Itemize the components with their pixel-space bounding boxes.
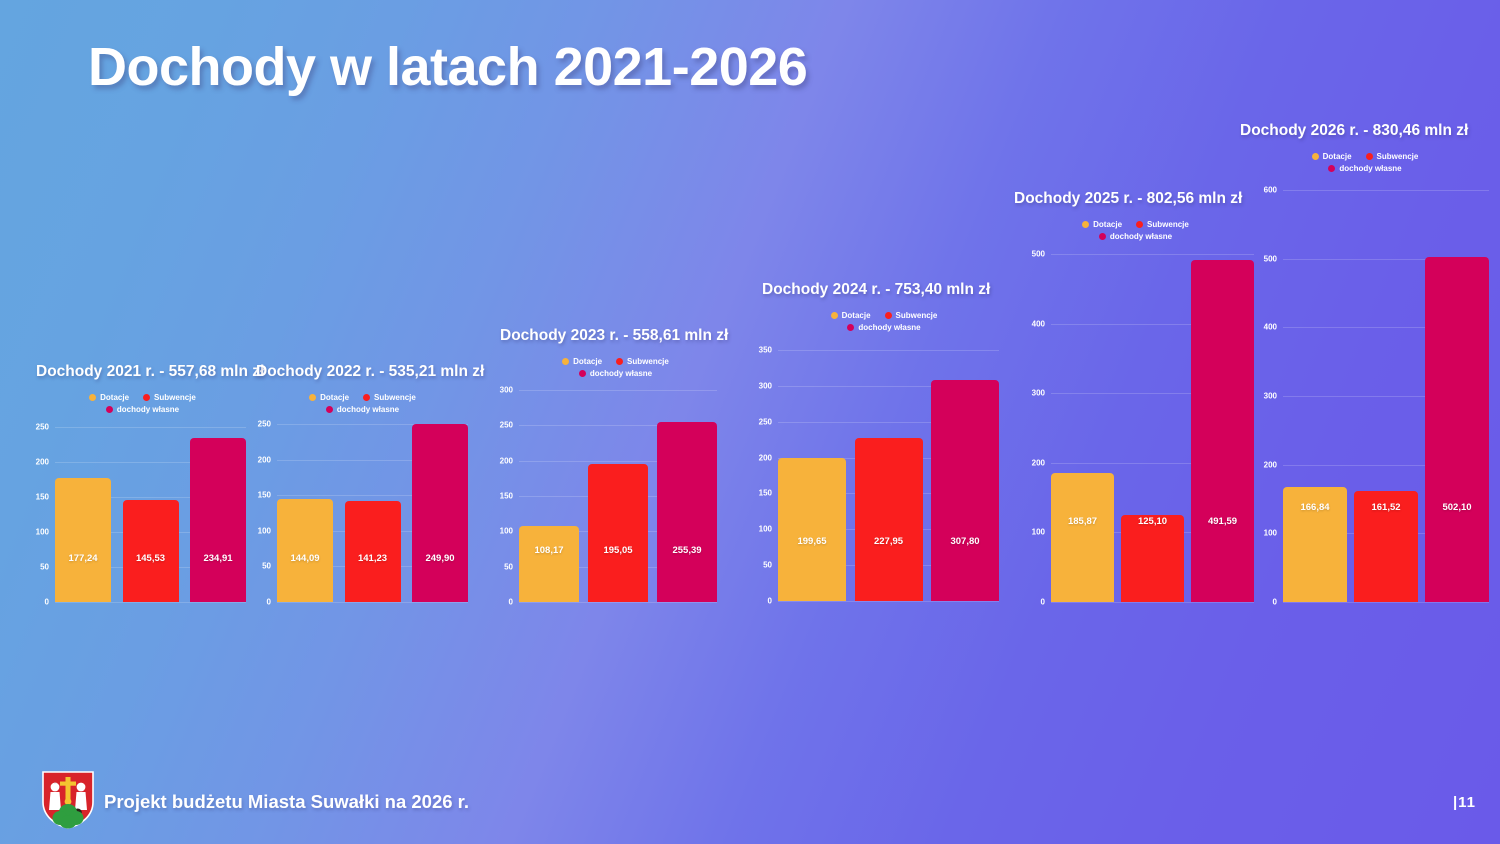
y-axis-tick-label: 150	[500, 492, 513, 501]
y-axis-tick-label: 150	[258, 491, 271, 500]
bar-group: 199,65227,95307,80	[778, 350, 999, 601]
y-axis-tick-label: 150	[759, 489, 772, 498]
chart-legend-2021: DotacjeSubwencjedochody własne	[36, 393, 249, 414]
bar-2024-dochody-własne[interactable]: 307,80	[931, 380, 999, 601]
bar-2022-dotacje[interactable]: 144,09	[277, 499, 333, 602]
legend-dot-icon	[89, 394, 96, 401]
chart-title-2021: Dochody 2021 r. - 557,68 mln zł	[36, 363, 264, 381]
legend-dot-icon	[1312, 153, 1319, 160]
y-axis-tick-label: 0	[768, 597, 772, 606]
bar-value-label: 141,23	[358, 553, 387, 564]
legend-item-dotacje[interactable]: Dotacje	[831, 311, 871, 320]
bar-value-label: 227,95	[874, 536, 903, 547]
y-axis-tick-label: 200	[36, 458, 49, 467]
y-axis-tick-label: 300	[759, 381, 772, 390]
legend-label: Dotacje	[320, 393, 349, 402]
y-axis-tick-label: 50	[763, 561, 772, 570]
chart-2022: Dochody 2022 r. - 535,21 mln złDotacjeSu…	[256, 363, 469, 373]
bar-2023-dochody-własne[interactable]: 255,39	[657, 422, 717, 602]
legend-label: Dotacje	[573, 357, 602, 366]
bar-2022-dochody-własne[interactable]: 249,90	[412, 424, 468, 602]
bar-2021-dotacje[interactable]: 177,24	[55, 478, 111, 602]
plot-area-2024: 350300250200150100500199,65227,95307,80	[778, 350, 999, 601]
bar-2024-dotacje[interactable]: 199,65	[778, 458, 846, 601]
bar-value-label: 177,24	[68, 553, 97, 564]
y-axis-tick-label: 150	[36, 493, 49, 502]
bar-value-label: 255,39	[672, 545, 701, 556]
y-axis-tick-label: 0	[1041, 598, 1045, 607]
y-axis-tick-label: 400	[1032, 319, 1045, 328]
footer-text: Projekt budżetu Miasta Suwałki na 2026 r…	[104, 791, 469, 813]
bar-value-label: 234,91	[203, 553, 232, 564]
chart-2023: Dochody 2023 r. - 558,61 mln złDotacjeSu…	[500, 327, 731, 337]
y-axis-tick-label: 0	[267, 598, 271, 607]
bar-group: 108,17195,05255,39	[519, 390, 717, 602]
y-axis-tick-label: 200	[500, 456, 513, 465]
bar-group: 185,87125,10491,59	[1051, 254, 1254, 602]
legend-item-subwencje[interactable]: Subwencje	[616, 357, 669, 366]
bar-2024-subwencje[interactable]: 227,95	[855, 438, 923, 601]
chart-title-2026: Dochody 2026 r. - 830,46 mln zł	[1240, 122, 1468, 140]
legend-item-dochody-własne[interactable]: dochody własne	[326, 405, 399, 414]
legend-dot-icon	[831, 312, 838, 319]
page-number: |11	[1453, 794, 1476, 811]
bar-2021-subwencje[interactable]: 145,53	[123, 500, 179, 602]
y-axis-tick-label: 200	[258, 455, 271, 464]
legend-dot-icon	[1328, 165, 1335, 172]
chart-2024: Dochody 2024 r. - 753,40 mln złDotacjeSu…	[762, 281, 1006, 291]
legend-item-dotacje[interactable]: Dotacje	[562, 357, 602, 366]
legend-label: Subwencje	[627, 357, 669, 366]
legend-label: dochody własne	[590, 369, 652, 378]
y-axis-tick-label: 300	[1032, 389, 1045, 398]
chart-legend-2025: DotacjeSubwencjedochody własne	[1014, 220, 1257, 241]
legend-label: dochody własne	[1110, 232, 1172, 241]
legend-item-subwencje[interactable]: Subwencje	[1366, 152, 1419, 161]
bar-group: 177,24145,53234,91	[55, 427, 246, 602]
legend-dot-icon	[616, 358, 623, 365]
bar-value-label: 144,09	[290, 553, 319, 564]
bar-group: 144,09141,23249,90	[277, 424, 468, 602]
bar-2026-dochody-własne[interactable]: 502,10	[1425, 257, 1489, 602]
y-axis-tick-label: 350	[759, 346, 772, 355]
legend-label: dochody własne	[117, 405, 179, 414]
legend-label: Subwencje	[1147, 220, 1189, 229]
bar-value-label: 195,05	[603, 545, 632, 556]
bar-2023-subwencje[interactable]: 195,05	[588, 464, 648, 602]
bar-value-label: 185,87	[1068, 516, 1097, 527]
bar-2025-dotacje[interactable]: 185,87	[1051, 473, 1114, 602]
gridline	[277, 602, 468, 603]
y-axis-tick-label: 100	[258, 526, 271, 535]
y-axis-tick-label: 100	[1264, 529, 1277, 538]
y-axis-tick-label: 100	[759, 525, 772, 534]
chart-2025: Dochody 2025 r. - 802,56 mln złDotacjeSu…	[1014, 190, 1257, 200]
legend-item-dochody-własne[interactable]: dochody własne	[847, 323, 920, 332]
y-axis-tick-label: 200	[1032, 458, 1045, 467]
y-axis-tick-label: 250	[759, 417, 772, 426]
bar-value-label: 502,10	[1442, 502, 1471, 513]
legend-item-subwencje[interactable]: Subwencje	[885, 311, 938, 320]
footer: Projekt budżetu Miasta Suwałki na 2026 r…	[0, 760, 1500, 844]
legend-dot-icon	[326, 406, 333, 413]
legend-item-subwencje[interactable]: Subwencje	[1136, 220, 1189, 229]
y-axis-tick-label: 250	[258, 420, 271, 429]
y-axis-tick-label: 400	[1264, 323, 1277, 332]
legend-label: Subwencje	[154, 393, 196, 402]
bar-value-label: 125,10	[1138, 516, 1167, 527]
legend-dot-icon	[1366, 153, 1373, 160]
y-axis-tick-label: 500	[1264, 254, 1277, 263]
legend-item-dotacje[interactable]: Dotacje	[1312, 152, 1352, 161]
y-axis-tick-label: 50	[262, 562, 271, 571]
y-axis-tick-label: 50	[40, 563, 49, 572]
legend-item-dochody-własne[interactable]: dochody własne	[106, 405, 179, 414]
y-axis-tick-label: 250	[500, 421, 513, 430]
gridline	[778, 601, 999, 602]
chart-legend-2024: DotacjeSubwencjedochody własne	[762, 311, 1006, 332]
legend-dot-icon	[885, 312, 892, 319]
chart-2021: Dochody 2021 r. - 557,68 mln złDotacjeSu…	[36, 363, 249, 373]
chart-legend-2022: DotacjeSubwencjedochody własne	[256, 393, 469, 414]
y-axis-tick-label: 250	[36, 423, 49, 432]
y-axis-tick-label: 0	[1273, 598, 1277, 607]
legend-item-dochody-własne[interactable]: dochody własne	[1328, 164, 1401, 173]
gridline	[1051, 602, 1254, 603]
chart-title-2025: Dochody 2025 r. - 802,56 mln zł	[1014, 190, 1242, 208]
chart-2026: Dochody 2026 r. - 830,46 mln złDotacjeSu…	[1240, 122, 1490, 132]
bar-value-label: 145,53	[136, 553, 165, 564]
legend-item-subwencje[interactable]: Subwencje	[143, 393, 196, 402]
bar-value-label: 161,52	[1371, 502, 1400, 513]
bar-2025-subwencje[interactable]: 125,10	[1121, 515, 1184, 602]
legend-item-dotacje[interactable]: Dotacje	[309, 393, 349, 402]
y-axis-tick-label: 500	[1032, 250, 1045, 259]
y-axis-tick-label: 100	[1032, 528, 1045, 537]
legend-label: Subwencje	[896, 311, 938, 320]
legend-label: dochody własne	[337, 405, 399, 414]
legend-label: Subwencje	[1377, 152, 1419, 161]
bar-2026-subwencje[interactable]: 161,52	[1354, 491, 1418, 602]
bar-2023-dotacje[interactable]: 108,17	[519, 526, 579, 602]
legend-label: dochody własne	[1339, 164, 1401, 173]
legend-label: Dotacje	[1323, 152, 1352, 161]
y-axis-tick-label: 200	[1264, 460, 1277, 469]
legend-dot-icon	[562, 358, 569, 365]
gridline	[55, 602, 246, 603]
legend-dot-icon	[143, 394, 150, 401]
y-axis-tick-label: 300	[500, 386, 513, 395]
y-axis-tick-label: 200	[759, 453, 772, 462]
bar-value-label: 491,59	[1208, 516, 1237, 527]
page-title: Dochody w latach 2021-2026	[88, 36, 807, 98]
y-axis-tick-label: 0	[45, 598, 49, 607]
legend-dot-icon	[847, 324, 854, 331]
legend-dot-icon	[309, 394, 316, 401]
plot-area-2026: 6005004003002001000166,84161,52502,10	[1283, 190, 1489, 602]
y-axis-tick-label: 0	[509, 598, 513, 607]
legend-label: Dotacje	[1093, 220, 1122, 229]
chart-title-2023: Dochody 2023 r. - 558,61 mln zł	[500, 327, 728, 345]
plot-area-2025: 5004003002001000185,87125,10491,59	[1051, 254, 1254, 602]
plot-area-2022: 250200150100500144,09141,23249,90	[277, 424, 468, 602]
legend-item-dotacje[interactable]: Dotacje	[89, 393, 129, 402]
legend-dot-icon	[1082, 221, 1089, 228]
bar-value-label: 108,17	[534, 545, 563, 556]
legend-item-dochody-własne[interactable]: dochody własne	[579, 369, 652, 378]
chart-title-2024: Dochody 2024 r. - 753,40 mln zł	[762, 281, 990, 299]
bar-value-label: 166,84	[1300, 502, 1329, 513]
bar-value-label: 307,80	[950, 536, 979, 547]
gridline	[1283, 602, 1489, 603]
plot-area-2021: 250200150100500177,24145,53234,91	[55, 427, 246, 602]
bar-value-label: 249,90	[425, 553, 454, 564]
bar-2025-dochody-własne[interactable]: 491,59	[1191, 260, 1254, 602]
legend-dot-icon	[363, 394, 370, 401]
plot-area-2023: 300250200150100500108,17195,05255,39	[519, 390, 717, 602]
y-axis-tick-label: 600	[1264, 186, 1277, 195]
bar-group: 166,84161,52502,10	[1283, 190, 1489, 602]
chart-legend-2023: DotacjeSubwencjedochody własne	[500, 357, 731, 378]
legend-item-dotacje[interactable]: Dotacje	[1082, 220, 1122, 229]
y-axis-tick-label: 300	[1264, 392, 1277, 401]
legend-dot-icon	[1099, 233, 1106, 240]
bar-2026-dotacje[interactable]: 166,84	[1283, 487, 1347, 602]
y-axis-tick-label: 50	[504, 562, 513, 571]
legend-dot-icon	[106, 406, 113, 413]
legend-dot-icon	[1136, 221, 1143, 228]
coat-of-arms-suwalki-icon	[41, 770, 95, 830]
legend-dot-icon	[579, 370, 586, 377]
y-axis-tick-label: 100	[36, 528, 49, 537]
chart-legend-2026: DotacjeSubwencjedochody własne	[1240, 152, 1490, 173]
legend-label: Subwencje	[374, 393, 416, 402]
bar-2022-subwencje[interactable]: 141,23	[345, 501, 401, 602]
y-axis-tick-label: 100	[500, 527, 513, 536]
legend-label: dochody własne	[858, 323, 920, 332]
legend-item-subwencje[interactable]: Subwencje	[363, 393, 416, 402]
gridline	[519, 602, 717, 603]
legend-item-dochody-własne[interactable]: dochody własne	[1099, 232, 1172, 241]
bar-2021-dochody-własne[interactable]: 234,91	[190, 438, 246, 602]
legend-label: Dotacje	[842, 311, 871, 320]
chart-title-2022: Dochody 2022 r. - 535,21 mln zł	[256, 363, 484, 381]
legend-label: Dotacje	[100, 393, 129, 402]
bar-value-label: 199,65	[797, 536, 826, 547]
